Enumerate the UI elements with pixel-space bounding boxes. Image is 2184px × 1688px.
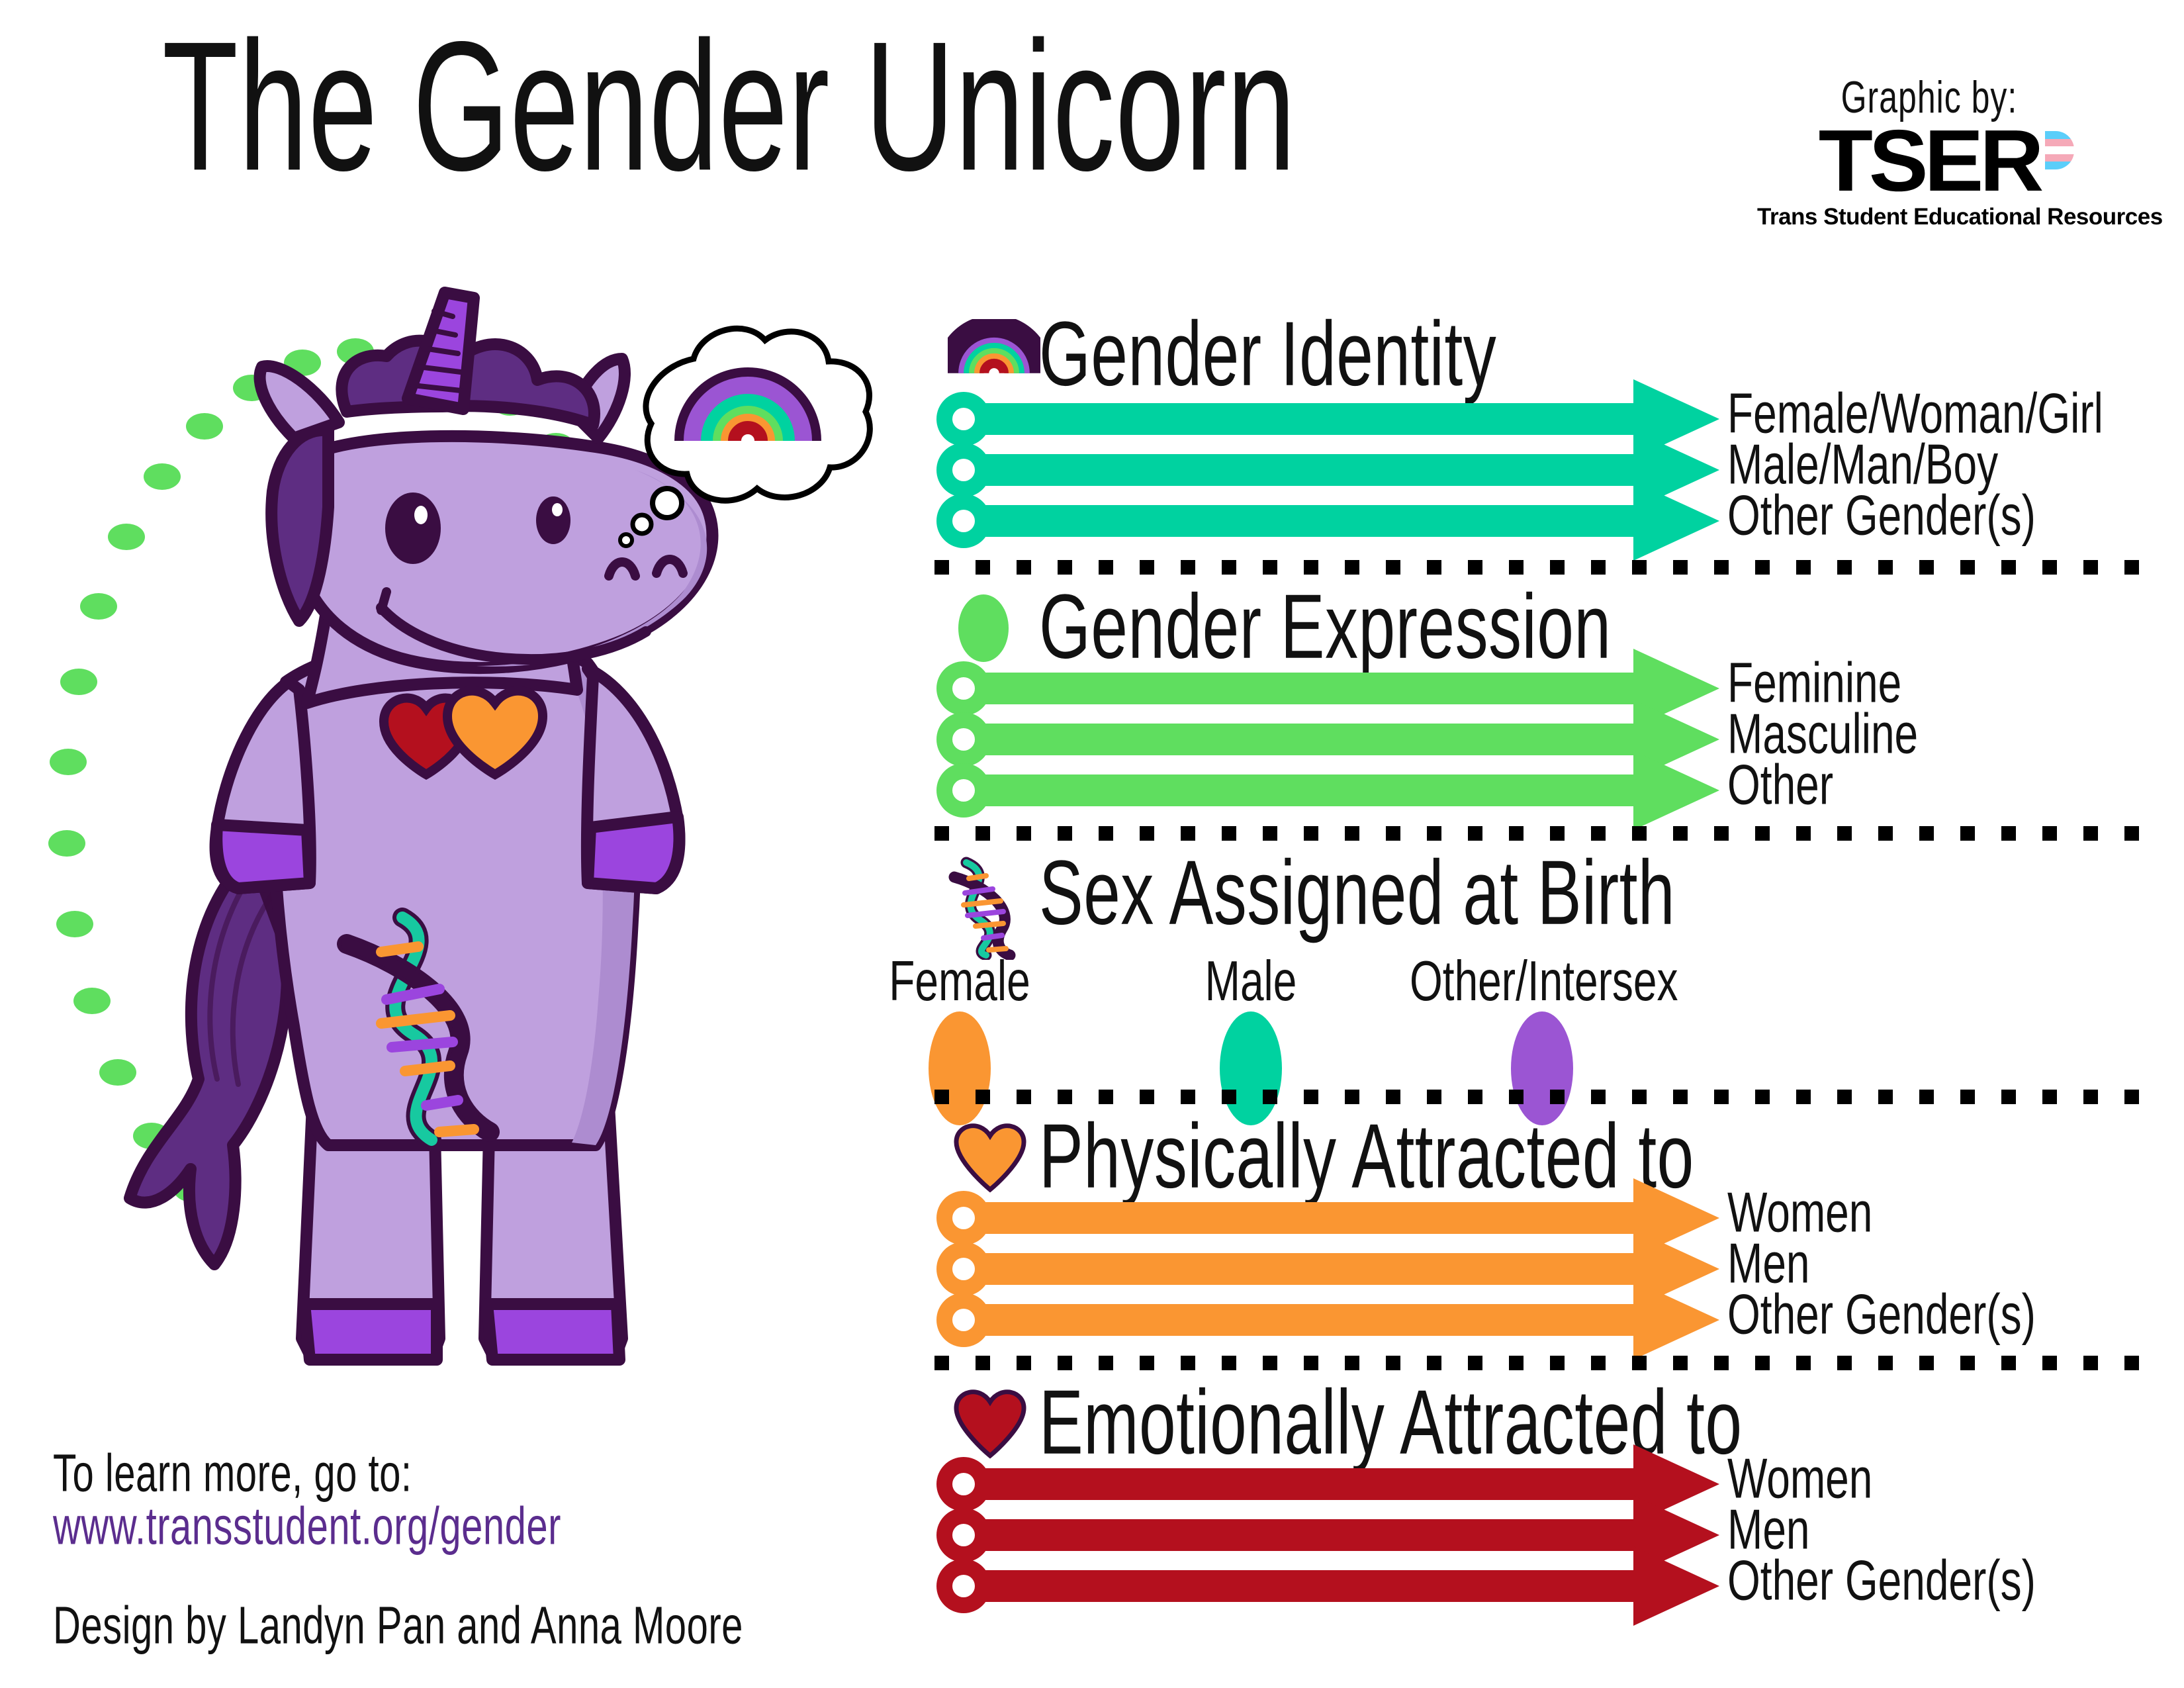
spectrum-option-label: Other Gender(s) xyxy=(1727,1281,2036,1346)
spectrum-shaft[interactable] xyxy=(975,1570,1635,1602)
section-divider xyxy=(934,560,2140,575)
spectrum-shaft[interactable] xyxy=(975,774,1635,806)
spectrum-arrow-row[interactable] xyxy=(936,765,1727,816)
spectrum-arrowhead xyxy=(1633,481,1719,561)
spectrum-option-label: Other xyxy=(1727,751,1833,817)
spectrum-shaft[interactable] xyxy=(975,673,1635,704)
green-circle-icon xyxy=(958,594,1009,662)
spectrum-arrow-row[interactable] xyxy=(936,1510,1727,1560)
spectrum-arrow-row[interactable] xyxy=(936,1295,1727,1345)
spectrum-arrow-row[interactable] xyxy=(936,663,1727,714)
spectrum-option-label: Other Gender(s) xyxy=(1727,1547,2036,1613)
section-heading-sex-assigned-at-birth: Sex Assigned at Birth xyxy=(1039,841,1675,946)
spectrum-arrowhead xyxy=(1633,751,1719,830)
spectrum-arrow-row[interactable] xyxy=(936,1561,1727,1611)
sab-option-label: Male xyxy=(1118,948,1383,1013)
spectrum-arrow-row[interactable] xyxy=(936,714,1727,765)
spectrum-arrow-row[interactable] xyxy=(936,445,1727,495)
sab-option-label: Female xyxy=(827,948,1092,1013)
spectrum-shaft[interactable] xyxy=(975,1468,1635,1500)
sab-option-dot[interactable] xyxy=(929,1011,991,1125)
section-divider xyxy=(934,1356,2140,1370)
spectrum-arrow-row[interactable] xyxy=(936,496,1727,546)
red-heart-icon xyxy=(952,1385,1028,1459)
rainbow-icon xyxy=(948,319,1040,377)
section-divider xyxy=(934,1090,2140,1104)
spectrum-shaft[interactable] xyxy=(975,1304,1635,1336)
spectrum-shaft[interactable] xyxy=(975,724,1635,755)
section-heading-gender-identity: Gender Identity xyxy=(1039,302,1496,407)
spectrum-shaft[interactable] xyxy=(975,1519,1635,1551)
sab-option-label: Other/Intersex xyxy=(1410,948,1674,1013)
dna-helix-icon xyxy=(945,853,1018,960)
section-divider xyxy=(934,826,2140,841)
spectrum-shaft[interactable] xyxy=(975,1202,1635,1234)
orange-heart-icon xyxy=(952,1119,1028,1193)
spectrum-arrowhead xyxy=(1633,1280,1719,1360)
spectrum-arrowhead xyxy=(1633,1546,1719,1626)
spectrum-shaft[interactable] xyxy=(975,1253,1635,1285)
sections-container: Gender IdentityFemale/Woman/GirlMale/Man… xyxy=(0,0,2184,1688)
spectrum-shaft[interactable] xyxy=(975,454,1635,486)
spectrum-arrow-row[interactable] xyxy=(936,1244,1727,1294)
spectrum-shaft[interactable] xyxy=(975,505,1635,537)
spectrum-option-label: Other Gender(s) xyxy=(1727,482,2036,547)
spectrum-arrow-row[interactable] xyxy=(936,394,1727,444)
spectrum-arrow-row[interactable] xyxy=(936,1193,1727,1243)
spectrum-shaft[interactable] xyxy=(975,403,1635,435)
spectrum-arrow-row[interactable] xyxy=(936,1459,1727,1509)
